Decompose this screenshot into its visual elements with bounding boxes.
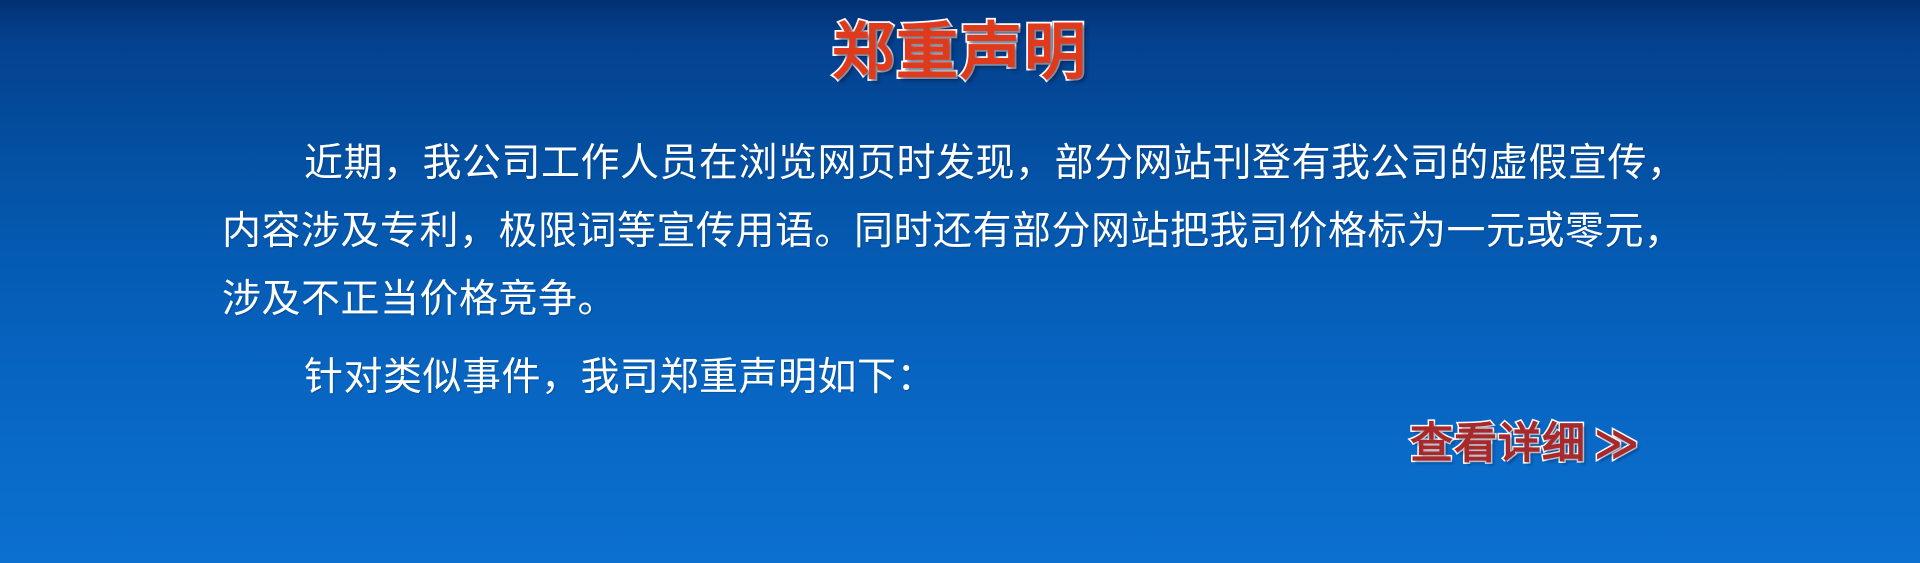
double-chevron-right-icon: ≫ [1594, 419, 1640, 469]
view-details-link[interactable]: 查看详细≫ [1410, 420, 1640, 469]
announcement-banner: 郑重声明 近期，我公司工作人员在浏览网页时发现，部分网站刊登有我公司的虚假宣传，… [0, 0, 1920, 563]
announcement-body: 近期，我公司工作人员在浏览网页时发现，部分网站刊登有我公司的虚假宣传，内容涉及专… [222, 130, 1702, 412]
detail-link-area: 查看详细≫ [0, 420, 1920, 469]
page-title: 郑重声明 [832, 18, 1088, 86]
announcement-paragraph-1: 近期，我公司工作人员在浏览网页时发现，部分网站刊登有我公司的虚假宣传，内容涉及专… [222, 130, 1702, 334]
announcement-paragraph-2: 针对类似事件，我司郑重声明如下： [222, 344, 1702, 412]
view-details-label: 查看详细 [1410, 419, 1586, 469]
banner-title-area: 郑重声明 [0, 18, 1920, 86]
